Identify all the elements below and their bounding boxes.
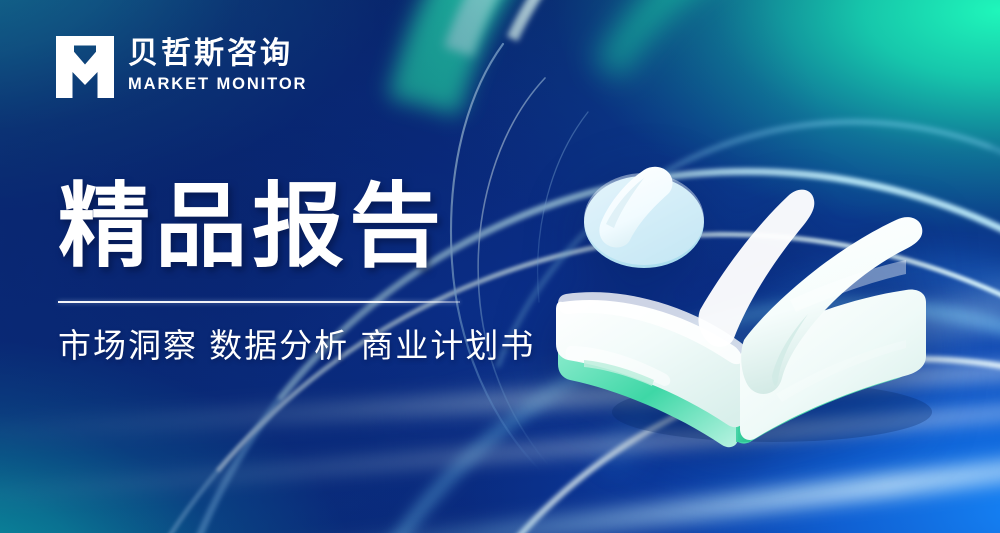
- market-monitor-m-logo-icon: [56, 36, 114, 98]
- page-title: 精品报告: [58, 176, 535, 279]
- logo-name-en: MARKET MONITOR: [128, 72, 307, 97]
- logo-name-cn: 贝哲斯咨询: [128, 37, 307, 71]
- page-subtitle: 市场洞察 数据分析 商业计划书: [58, 325, 535, 368]
- open-book-illustration: [540, 150, 970, 450]
- headline-block: 精品报告 市场洞察 数据分析 商业计划书: [58, 176, 535, 368]
- logo-text-block: 贝哲斯咨询 MARKET MONITOR: [128, 37, 307, 96]
- promo-banner: 贝哲斯咨询 MARKET MONITOR 精品报告 市场洞察 数据分析 商业计划…: [0, 0, 1000, 533]
- brand-logo[interactable]: 贝哲斯咨询 MARKET MONITOR: [56, 36, 307, 98]
- title-divider: [58, 301, 460, 303]
